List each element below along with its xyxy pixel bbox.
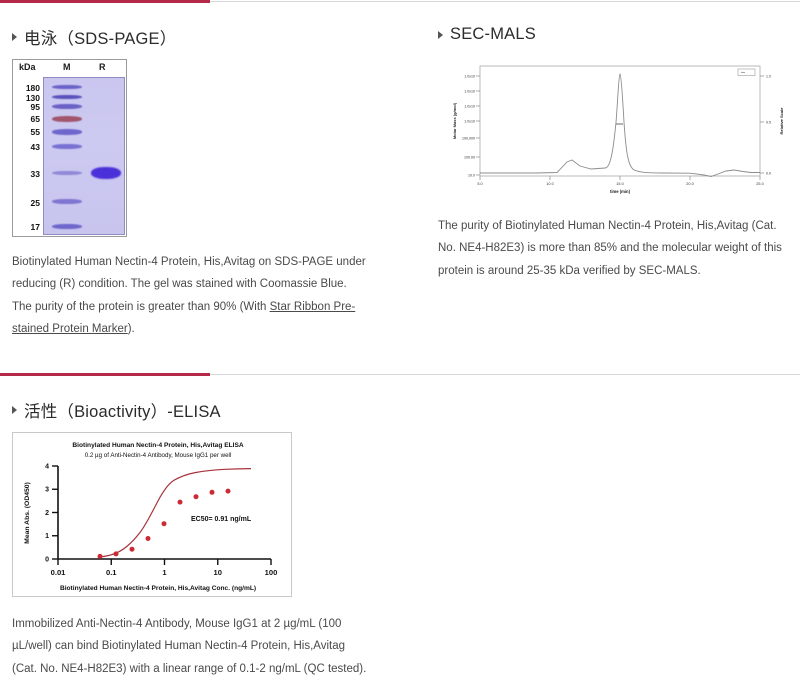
sec-mals-chart-svg: 1.0x10 1.0x10 1.0x10 1.0x10 100,000 100.… xyxy=(438,54,793,199)
svg-text:25.0: 25.0 xyxy=(756,182,763,186)
elisa-y-tick-labels: 0 1 2 3 4 xyxy=(45,463,49,563)
elisa-point-5 xyxy=(162,521,167,526)
gel-mw-label-column: 180 130 95 65 55 43 33 25 17 xyxy=(16,77,42,235)
gel-header-marker: M xyxy=(63,62,71,72)
sec-mals-x-tick-labels: 5.0 10.0 15.0 20.0 25.0 xyxy=(477,182,763,186)
svg-text:20.0: 20.0 xyxy=(686,182,693,186)
ladder-band-17 xyxy=(52,224,82,229)
elisa-x-ticks xyxy=(58,559,271,565)
gel-mw-33: 33 xyxy=(31,169,40,179)
sec-mals-y2label: Relative Scale xyxy=(779,107,784,135)
svg-text:100.00: 100.00 xyxy=(464,155,475,159)
elisa-xlabel: Biotinylated Human Nectin-4 Protein, His… xyxy=(60,585,256,592)
elisa-ylabel: Mean Abs. (OD450) xyxy=(24,482,31,544)
gel-mw-25: 25 xyxy=(31,198,40,208)
ladder-band-65 xyxy=(52,116,82,122)
ladder-band-25 xyxy=(52,199,82,204)
elisa-chart: Biotinylated Human Nectin-4 Protein, His… xyxy=(12,432,292,597)
gel-mw-43: 43 xyxy=(31,142,40,152)
sample-band-33kda xyxy=(91,167,121,179)
sec-mals-heading: SEC-MALS xyxy=(438,25,800,44)
ladder-band-180 xyxy=(52,85,82,89)
sds-page-caption-after: ). xyxy=(128,323,135,335)
ladder-band-43 xyxy=(52,144,82,149)
svg-text:1.0x10: 1.0x10 xyxy=(464,119,475,123)
sec-mals-x-ticks xyxy=(480,176,760,180)
gel-mw-65: 65 xyxy=(31,114,40,124)
ladder-band-130 xyxy=(52,95,82,99)
sec-mals-xlabel: time (min) xyxy=(610,189,631,194)
top-divider-accent xyxy=(0,0,210,3)
elisa-fit-curve xyxy=(100,468,251,556)
sec-mals-title-text: SEC-MALS xyxy=(450,25,536,44)
mid-divider xyxy=(0,373,800,376)
elisa-subtitle: 0.2 µg of Anti-Nectin-4 Antibody, Mouse … xyxy=(85,452,232,459)
gel-lane-area xyxy=(43,77,125,235)
elisa-chart-svg: Biotinylated Human Nectin-4 Protein, His… xyxy=(13,433,291,596)
bioactivity-caption: Immobilized Anti-Nectin-4 Antibody, Mous… xyxy=(12,613,367,680)
elisa-point-2 xyxy=(114,551,119,556)
bioactivity-section: 活性（Bioactivity）-ELISA Biotinylated Human… xyxy=(0,376,420,680)
svg-text:1.0x10: 1.0x10 xyxy=(464,104,475,108)
top-divider xyxy=(0,0,800,3)
gel-lane-headers: kDa M R xyxy=(13,62,126,77)
elisa-point-9 xyxy=(226,488,231,493)
svg-text:0.1: 0.1 xyxy=(106,568,117,577)
elisa-point-6 xyxy=(178,499,183,504)
elisa-x-tick-labels: 0.01 0.1 1 10 100 xyxy=(51,568,278,577)
elisa-point-3 xyxy=(130,546,135,551)
elisa-data-points xyxy=(98,488,231,558)
svg-text:1.0x10: 1.0x10 xyxy=(464,74,475,78)
elisa-title: Biotinylated Human Nectin-4 Protein, His… xyxy=(72,442,243,449)
sds-page-caption: Biotinylated Human Nectin-4 Protein, His… xyxy=(12,251,367,341)
svg-text:100: 100 xyxy=(265,568,278,577)
svg-text:0.01: 0.01 xyxy=(51,568,67,577)
gel-mw-95: 95 xyxy=(31,102,40,112)
ladder-band-33 xyxy=(52,171,82,175)
bioactivity-heading: 活性（Bioactivity）-ELISA xyxy=(12,398,420,422)
svg-text:10: 10 xyxy=(214,568,222,577)
triangle-bullet-icon xyxy=(12,33,17,41)
elisa-point-7 xyxy=(194,494,199,499)
svg-text:10.0: 10.0 xyxy=(546,182,553,186)
bioactivity-title-text: 活性（Bioactivity）-ELISA xyxy=(24,398,221,422)
triangle-bullet-icon xyxy=(12,406,17,414)
row-bioactivity: 活性（Bioactivity）-ELISA Biotinylated Human… xyxy=(0,376,800,680)
gel-mw-55: 55 xyxy=(31,127,40,137)
gel-header-reduced: R xyxy=(99,62,106,72)
svg-text:100,000: 100,000 xyxy=(462,136,475,140)
sec-mals-section: SEC-MALS 1.0x10 1.0x10 xyxy=(420,3,800,341)
sec-mals-y-ticks xyxy=(476,76,480,175)
ladder-band-55 xyxy=(52,129,82,135)
sec-mals-plot-frame xyxy=(480,66,760,176)
svg-text:1.0: 1.0 xyxy=(766,74,771,78)
elisa-point-1 xyxy=(98,554,103,559)
svg-text:1: 1 xyxy=(162,568,167,577)
svg-text:3: 3 xyxy=(45,486,49,493)
svg-text:10.0: 10.0 xyxy=(468,173,475,177)
svg-text:0.0: 0.0 xyxy=(766,171,771,175)
elisa-y-ticks xyxy=(52,466,58,559)
sds-page-title-text: 电泳（SDS-PAGE） xyxy=(24,25,176,49)
svg-text:0.5: 0.5 xyxy=(766,120,771,124)
svg-text:1.0x10: 1.0x10 xyxy=(464,89,475,93)
sec-mals-ylabel: Molar Mass (g/mol) xyxy=(452,102,457,139)
sec-mals-y2-ticks xyxy=(760,76,764,173)
gel-mw-180: 180 xyxy=(26,83,40,93)
sec-mals-y-tick-labels: 1.0x10 1.0x10 1.0x10 1.0x10 100,000 100.… xyxy=(462,74,475,177)
sds-page-heading: 电泳（SDS-PAGE） xyxy=(12,25,420,49)
elisa-ec50-annotation: EC50= 0.91 ng/mL xyxy=(191,516,252,523)
sec-mals-y2-tick-labels: 1.0 0.5 0.0 xyxy=(766,74,771,175)
svg-text:1: 1 xyxy=(45,533,49,540)
sec-mals-caption: The purity of Biotinylated Human Nectin-… xyxy=(438,215,793,282)
elisa-point-4 xyxy=(146,536,151,541)
ladder-band-95 xyxy=(52,104,82,109)
sec-mals-chart: 1.0x10 1.0x10 1.0x10 1.0x10 100,000 100.… xyxy=(438,54,793,199)
row-sdspage-secmals: 电泳（SDS-PAGE） kDa M R 180 130 95 65 55 43… xyxy=(0,3,800,341)
gel-header-kda: kDa xyxy=(19,62,36,72)
sds-page-section: 电泳（SDS-PAGE） kDa M R 180 130 95 65 55 43… xyxy=(0,3,420,341)
svg-text:4: 4 xyxy=(45,463,49,470)
triangle-bullet-icon xyxy=(438,31,443,39)
svg-text:2: 2 xyxy=(45,510,49,517)
svg-text:0: 0 xyxy=(45,556,49,563)
gel-mw-17: 17 xyxy=(31,222,40,232)
svg-text:15.0: 15.0 xyxy=(616,182,623,186)
elisa-point-8 xyxy=(210,489,215,494)
svg-text:5.0: 5.0 xyxy=(477,182,482,186)
mid-divider-accent xyxy=(0,373,210,376)
sec-mals-legend-box xyxy=(738,69,755,76)
sds-page-gel-image: kDa M R 180 130 95 65 55 43 33 25 17 xyxy=(12,59,127,237)
